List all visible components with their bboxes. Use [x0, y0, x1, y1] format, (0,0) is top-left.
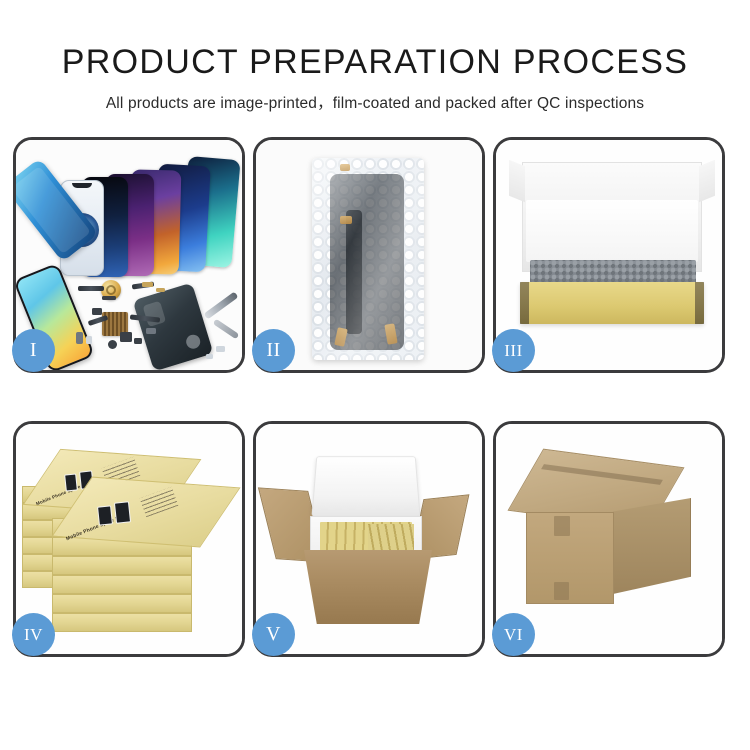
phone-parts-scene: [16, 140, 242, 370]
stacked-box-f4: [52, 575, 192, 594]
stacked-box-f6: [52, 613, 192, 632]
bubble-wrap-scene: [256, 140, 482, 370]
step-badge-4: IV: [12, 613, 55, 656]
carton-front-face: [526, 512, 614, 604]
carton-body: [304, 550, 432, 624]
process-step-panel-2: II: [253, 137, 485, 373]
carton-side-face: [613, 498, 691, 594]
process-step-panel-4: Mobile Phone Spare Parts Mobile Phone Sp…: [13, 421, 245, 657]
process-step-panel-1: I: [13, 137, 245, 373]
stacked-box-f3: [52, 556, 192, 575]
carton-tape-lower: [554, 582, 569, 600]
carton-loading-scene: [256, 424, 482, 654]
tape-piece-1: [340, 164, 350, 171]
tweezers-tool: [204, 292, 239, 320]
step-badge-6: VI: [492, 613, 535, 656]
small-part-5: [76, 332, 83, 344]
tape-piece-2: [340, 216, 352, 224]
panel-4-image: Mobile Phone Spare Parts Mobile Phone Sp…: [16, 424, 242, 654]
step-badge-5: V: [252, 613, 295, 656]
process-step-panel-3: III: [493, 137, 725, 373]
wrapped-flex-cable: [346, 210, 362, 334]
kraft-box-tray: [520, 282, 704, 324]
small-part-3: [92, 308, 102, 315]
carton-tape-upper: [554, 516, 570, 536]
small-part-12: [206, 354, 213, 359]
small-part-9: [146, 328, 156, 334]
process-step-panel-6: VI: [493, 421, 725, 657]
page-title: PRODUCT PREPARATION PROCESS: [0, 42, 750, 82]
white-foam-sheet: [526, 200, 698, 262]
small-part-10: [102, 296, 116, 300]
bubble-wrap-bag: [312, 158, 424, 360]
box-art-phone-f1: [97, 505, 113, 525]
screwdriver-tool: [213, 319, 240, 340]
infographic-page: PRODUCT PREPARATION PROCESS All products…: [0, 0, 750, 750]
box-art-phone-f2: [114, 501, 131, 523]
box-art-phone-b1: [64, 473, 78, 491]
foam-box-scene: [496, 140, 722, 370]
box-stack-scene: Mobile Phone Spare Parts Mobile Phone Sp…: [16, 424, 242, 654]
panel-6-image: [496, 424, 722, 654]
step-badge-3: III: [492, 329, 535, 372]
sealed-carton-scene: [496, 424, 722, 654]
step-badge-1: I: [12, 329, 55, 372]
panel-1-image: [16, 140, 242, 370]
step-badge-2: II: [252, 329, 295, 372]
small-part-7: [120, 332, 132, 342]
small-part-1: [142, 282, 153, 287]
small-part-4: [108, 340, 117, 349]
small-part-8: [134, 338, 142, 344]
stacked-box-f5: [52, 594, 192, 613]
panel-3-image: [496, 140, 722, 370]
small-part-6: [86, 336, 92, 344]
panel-2-image: [256, 140, 482, 370]
page-subtitle: All products are image-printed，film-coat…: [0, 91, 750, 113]
styrofoam-lid: [311, 456, 420, 516]
flex-cable-1: [78, 286, 104, 291]
small-part-2: [156, 288, 165, 292]
process-step-panel-5: V: [253, 421, 485, 657]
panel-5-image: [256, 424, 482, 654]
small-part-11: [216, 346, 225, 352]
header: PRODUCT PREPARATION PROCESS All products…: [0, 0, 750, 113]
phone-back-housing: [133, 283, 214, 370]
phone-notch: [72, 183, 92, 188]
process-step-grid: I II: [13, 137, 725, 657]
